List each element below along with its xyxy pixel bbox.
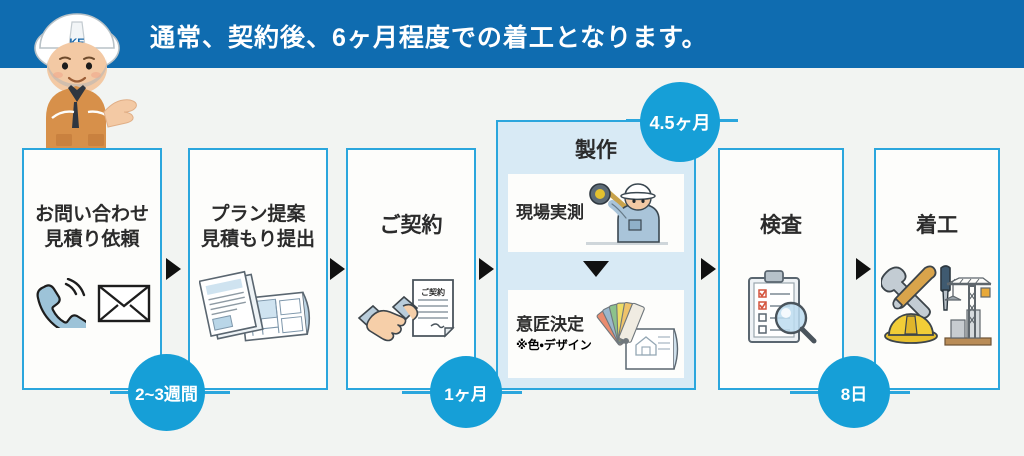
- sub-step-site-measurement[interactable]: 現場実測: [508, 174, 684, 252]
- flow-arrow-4: [701, 258, 716, 280]
- step-icons-contract: ご契約: [348, 268, 474, 348]
- duration-badge-1-month[interactable]: 1ヶ月: [430, 356, 502, 428]
- contract-paper-label: ご契約: [421, 287, 445, 297]
- sub-step-design-decision-label: 意匠決定: [516, 315, 592, 335]
- clipboard-magnifier-icon: [741, 268, 821, 350]
- duration-badge-8-days[interactable]: 8日: [818, 356, 890, 428]
- production-down-arrow: [583, 261, 609, 277]
- step-box-plan-proposal[interactable]: プラン提案 見積もり提出: [188, 148, 328, 390]
- flow-arrow-3: [479, 258, 494, 280]
- step-title-plan-proposal: プラン提案 見積もり提出: [190, 202, 326, 252]
- step-box-contract[interactable]: ご契約 ご契約: [346, 148, 476, 390]
- flow-arrow-5: [856, 258, 871, 280]
- color-swatches-blueprint-icon: [588, 293, 682, 375]
- step-box-inspection[interactable]: 検査: [718, 148, 844, 390]
- flow-arrow-1: [166, 258, 181, 280]
- step-icons-construction-start: [876, 262, 998, 348]
- worker-measuring-icon: [586, 176, 668, 250]
- construction-worker-mascot-icon: KE: [22, 6, 140, 156]
- page-title: 通常、契約後、6ヶ月程度での着工となります。: [150, 18, 708, 54]
- step-box-production[interactable]: 製作 現場実測: [496, 120, 696, 390]
- handshake-contract-icon: ご契約: [355, 268, 467, 348]
- sub-step-design-decision[interactable]: 意匠決定 ※色・デザイン: [508, 290, 684, 378]
- sub-step-design-decision-note: ※色・デザイン: [516, 336, 592, 353]
- flow-arrow-2: [330, 258, 345, 280]
- step-icons-inspection: [720, 268, 842, 350]
- step-box-construction-start[interactable]: 着工: [874, 148, 1000, 390]
- duration-badge-2-3-weeks[interactable]: 2~3週間: [128, 354, 205, 431]
- phone-icon: [32, 278, 86, 328]
- step-title-construction-start: 着工: [876, 212, 998, 240]
- step-title-inquiry: お問い合わせ 見積り依頼: [24, 202, 160, 252]
- documents-blueprint-icon: [199, 270, 317, 346]
- step-title-inspection: 検査: [720, 212, 842, 240]
- step-box-inquiry[interactable]: お問い合わせ 見積り依頼: [22, 148, 162, 390]
- step-icons-inquiry: [24, 278, 160, 328]
- duration-badge-4-5-months[interactable]: 4.5ヶ月: [640, 82, 720, 162]
- sub-step-design-decision-text: 意匠決定 ※色・デザイン: [508, 315, 592, 352]
- flow-diagram-canvas: 通常、契約後、6ヶ月程度での着工となります。 KE お問い合わせ 見積り依頼: [0, 0, 1024, 456]
- step-icons-plan-proposal: [190, 270, 326, 346]
- envelope-icon: [96, 281, 152, 325]
- tools-hardhat-crane-icon: [881, 262, 993, 348]
- sub-step-site-measurement-label: 現場実測: [508, 203, 584, 223]
- step-title-contract: ご契約: [348, 212, 474, 240]
